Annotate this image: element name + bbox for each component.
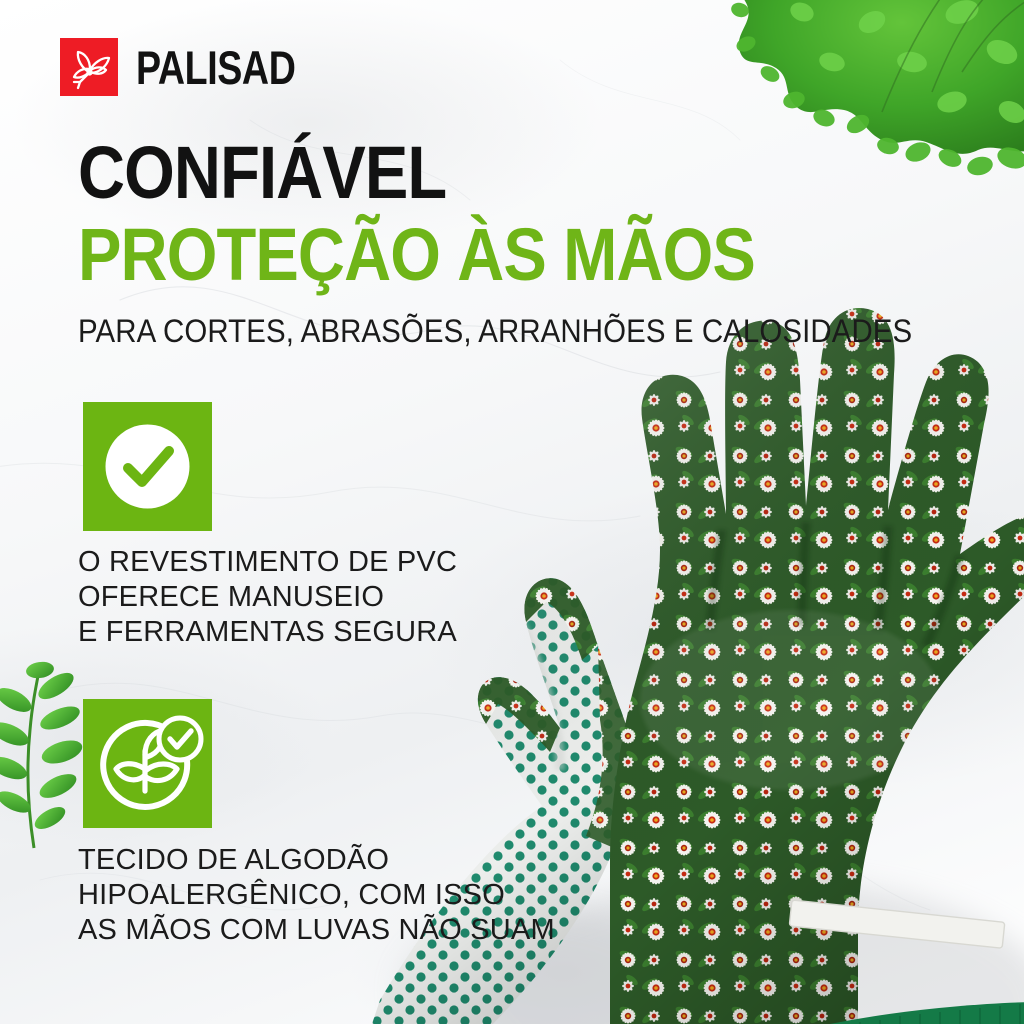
- feature-2-text: TECIDO DE ALGODÃO HIPOALERGÊNICO, COM IS…: [78, 843, 555, 947]
- headline-line-2: PROTEÇÃO ÀS MÃOS: [78, 218, 755, 292]
- brand-logo: PALISAD: [60, 38, 335, 96]
- check-circle-icon: [83, 402, 212, 531]
- subtitle: PARA CORTES, ABRASÕES, ARRANHÕES E CALOS…: [78, 315, 912, 347]
- boxwood-foliage-icon: [712, 0, 1024, 212]
- feature-1-text: O REVESTIMENTO DE PVC OFERECE MANUSEIO E…: [78, 545, 457, 649]
- headline-line-1: CONFIÁVEL: [78, 136, 446, 210]
- poster-canvas: PALISAD CONFIÁVEL PROTEÇÃO ÀS MÃOS PARA …: [0, 0, 1024, 1024]
- butterfly-leaf-icon: [60, 38, 118, 96]
- leaf-approved-icon: [83, 699, 212, 828]
- brand-name: PALISAD: [136, 44, 295, 91]
